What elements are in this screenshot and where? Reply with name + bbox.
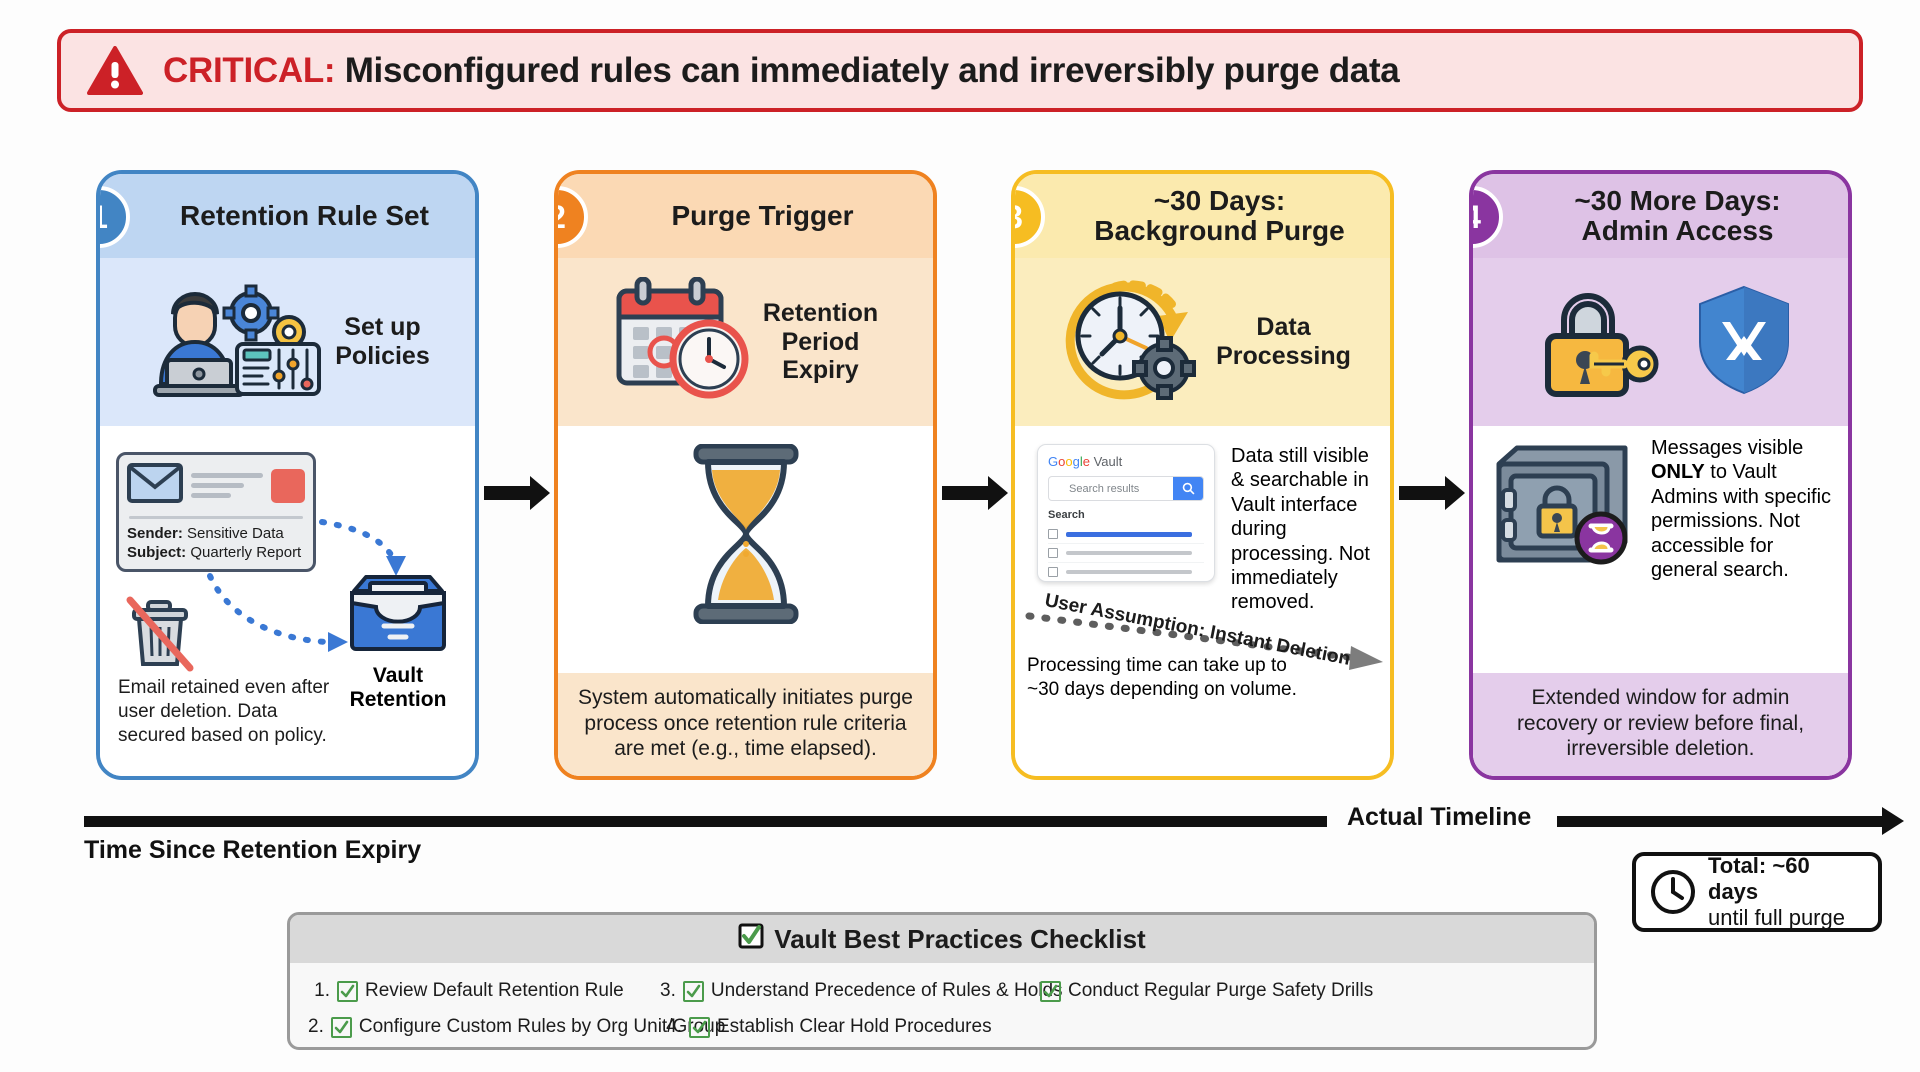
total-duration-badge: Total: ~60 days until full purge [1632, 852, 1882, 932]
panel-1-illustration-band: Set up Policies [100, 258, 475, 426]
panel-3-mid-line-2: Processing [1216, 342, 1351, 371]
vault-result-row[interactable] [1048, 525, 1204, 544]
panel-4-footer: Extended window for admin recovery or re… [1473, 673, 1848, 778]
logo-letter-g: G [1048, 454, 1058, 469]
panel-2-title: Purge Trigger [558, 174, 933, 258]
google-vault-logo: Google Vault [1048, 454, 1204, 469]
panel-retention-rule-set[interactable]: Retention Rule Set [96, 170, 479, 780]
panel-2-mid-line-1: Retention [763, 299, 878, 328]
checklist-item-checkbox[interactable] [689, 1017, 710, 1038]
checklist-item-checkbox[interactable] [683, 981, 704, 1002]
panel-3-mid-line-1: Data [1216, 313, 1351, 342]
panel-3-illustration-band: Data Processing [1015, 258, 1390, 426]
panel-purge-trigger[interactable]: Purge Trigger [554, 170, 937, 780]
connector-arrow-3-4 [1399, 486, 1447, 500]
panel-2-mid-label: Retention Period Expiry [763, 299, 878, 385]
panel-4-note-part-1: Messages visible [1651, 437, 1803, 459]
total-duration-line-2: until full purge [1708, 905, 1864, 931]
timeline-right-label: Actual Timeline [1347, 803, 1531, 832]
vault-result-row[interactable] [1048, 544, 1204, 563]
admin-configuring-policies-icon [145, 280, 323, 405]
panel-4-body: Messages visible ONLY to Vault Admins wi… [1473, 426, 1848, 778]
vault-label-line-1: Vault [343, 664, 453, 688]
connector-arrow-2-3 [942, 486, 990, 500]
vault-retention-block: Vault Retention [343, 571, 453, 712]
vault-result-row[interactable] [1048, 563, 1204, 582]
vault-retention-label: Vault Retention [343, 664, 453, 712]
warning-triangle-icon [87, 46, 143, 96]
padlock-key-icon [1530, 280, 1660, 405]
checklist-row: 2. Configure Custom Rules by Org Unit/Gr… [308, 1009, 1576, 1045]
critical-label: CRITICAL: [163, 51, 335, 90]
panel-3-body: Google Vault Search results Search [1015, 426, 1390, 778]
panel-3-footer: Processing time can take up to ~30 days … [1027, 654, 1307, 702]
checklist-item[interactable]: 1. Review Default Retention Rule [308, 980, 660, 1002]
checklist-row: 1. Review Default Retention Rule 3. Unde… [308, 973, 1576, 1009]
vault-file-box-icon [346, 644, 450, 661]
checklist-item-number: 1. [308, 980, 330, 1002]
panel-2-body: System automatically initiates purge pro… [558, 426, 933, 778]
panel-4-title-line-2: Admin Access [1574, 216, 1780, 246]
vault-search-button[interactable] [1173, 477, 1203, 500]
panel-background-purge[interactable]: ~30 Days: Background Purge [1011, 170, 1394, 780]
panel-2-footer: System automatically initiates purge pro… [558, 673, 933, 778]
total-duration-text: Total: ~60 days until full purge [1708, 853, 1864, 931]
logo-product-word: Vault [1090, 454, 1122, 469]
logo-letter-g2: g [1073, 454, 1080, 469]
hourglass-icon [682, 444, 810, 629]
panel-4-note: Messages visible ONLY to Vault Admins wi… [1651, 436, 1841, 582]
panel-1-mid-line-1: Set up [335, 313, 430, 342]
panel-3-title: ~30 Days: Background Purge [1015, 174, 1390, 258]
row-bar [1066, 551, 1192, 555]
panel-1-title: Retention Rule Set [100, 174, 475, 258]
google-vault-mockup[interactable]: Google Vault Search results Search [1037, 444, 1215, 582]
row-checkbox[interactable] [1048, 529, 1058, 539]
checklist-item-label: Understand Precedence of Rules & Holds [711, 980, 1063, 1002]
connector-arrow-1-2 [484, 486, 532, 500]
checklist-item[interactable]: Conduct Regular Purge Safety Drills [1040, 980, 1373, 1002]
best-practices-checklist: Vault Best Practices Checklist 1. Review… [287, 912, 1597, 1050]
safe-with-hourglass-icon [1491, 442, 1641, 572]
checklist-item-checkbox[interactable] [331, 1017, 352, 1038]
row-bar [1066, 532, 1192, 537]
panel-1-mid-label: Set up Policies [335, 313, 430, 371]
clock-gear-processing-icon [1054, 276, 1204, 409]
panel-3-mid-label: Data Processing [1216, 313, 1351, 371]
row-bar [1066, 570, 1192, 574]
vault-label-line-2: Retention [343, 688, 453, 712]
panel-2-illustration-band: Retention Period Expiry [558, 258, 933, 426]
checklist-item-number: 4. [660, 1016, 682, 1038]
infographic-page: CRITICAL: Misconfigured rules can immedi… [0, 0, 1920, 1072]
panel-2-mid-line-3: Expiry [763, 356, 878, 385]
critical-warning-banner: CRITICAL: Misconfigured rules can immedi… [57, 29, 1863, 112]
vault-search-placeholder[interactable]: Search results [1049, 483, 1173, 495]
checklist-item-checkbox[interactable] [337, 981, 358, 1002]
checklist-item[interactable]: 4. Establish Clear Hold Procedures [660, 1016, 1040, 1038]
total-duration-line-1: Total: ~60 days [1708, 853, 1810, 904]
banner-text: CRITICAL: Misconfigured rules can immedi… [163, 51, 1399, 91]
checklist-item-label: Review Default Retention Rule [365, 980, 624, 1002]
panel-1-note: Email retained even after user deletion.… [118, 676, 333, 747]
logo-letter-e: e [1083, 454, 1090, 469]
calendar-clock-icon [613, 277, 751, 407]
logo-letter-o2: o [1065, 454, 1072, 469]
panel-admin-access[interactable]: ~30 More Days: Admin Access [1469, 170, 1852, 780]
timeline-left-label: Time Since Retention Expiry [84, 836, 421, 865]
panel-4-title: ~30 More Days: Admin Access [1473, 174, 1848, 258]
row-checkbox[interactable] [1048, 567, 1058, 577]
checklist-item-number: 2. [308, 1016, 324, 1038]
checkbox-checked-icon [738, 923, 764, 956]
checklist-item-number: 3. [660, 980, 676, 1002]
panel-1-body: Sender: Sensitive Data Subject: Quarterl… [100, 426, 475, 778]
panel-3-title-line-2: Background Purge [1094, 216, 1344, 246]
panel-4-illustration-band [1473, 258, 1848, 426]
checklist-item-label: Establish Clear Hold Procedures [717, 1016, 992, 1038]
checklist-item[interactable]: 3. Understand Precedence of Rules & Hold… [660, 980, 1040, 1002]
row-checkbox[interactable] [1048, 548, 1058, 558]
panel-4-title-line-1: ~30 More Days: [1574, 186, 1780, 216]
panel-1-mid-line-2: Policies [335, 342, 430, 371]
checklist-item[interactable]: 2. Configure Custom Rules by Org Unit/Gr… [308, 1016, 660, 1038]
timeline-axis [84, 816, 1884, 827]
vault-shield-icon [1696, 284, 1792, 401]
panel-4-note-emphasis: ONLY [1651, 461, 1705, 483]
panel-2-mid-line-2: Period [763, 328, 878, 357]
user-assumption-arrow: User Assumption: Instant Deletion [1025, 588, 1385, 660]
vault-search-bar[interactable]: Search results [1048, 476, 1204, 501]
checklist-item-checkbox[interactable] [1040, 981, 1061, 1002]
checklist-header: Vault Best Practices Checklist [290, 915, 1594, 963]
checklist-item-label: Conduct Regular Purge Safety Drills [1068, 980, 1373, 1002]
panel-3-title-line-1: ~30 Days: [1094, 186, 1344, 216]
no-delete-trash-icon [124, 594, 210, 672]
checklist-title: Vault Best Practices Checklist [774, 924, 1145, 955]
checklist-body: 1. Review Default Retention Rule 3. Unde… [290, 963, 1594, 1045]
banner-message: Misconfigured rules can immediately and … [335, 51, 1399, 90]
vault-section-label: Search [1048, 509, 1204, 521]
clock-icon [1650, 869, 1696, 915]
